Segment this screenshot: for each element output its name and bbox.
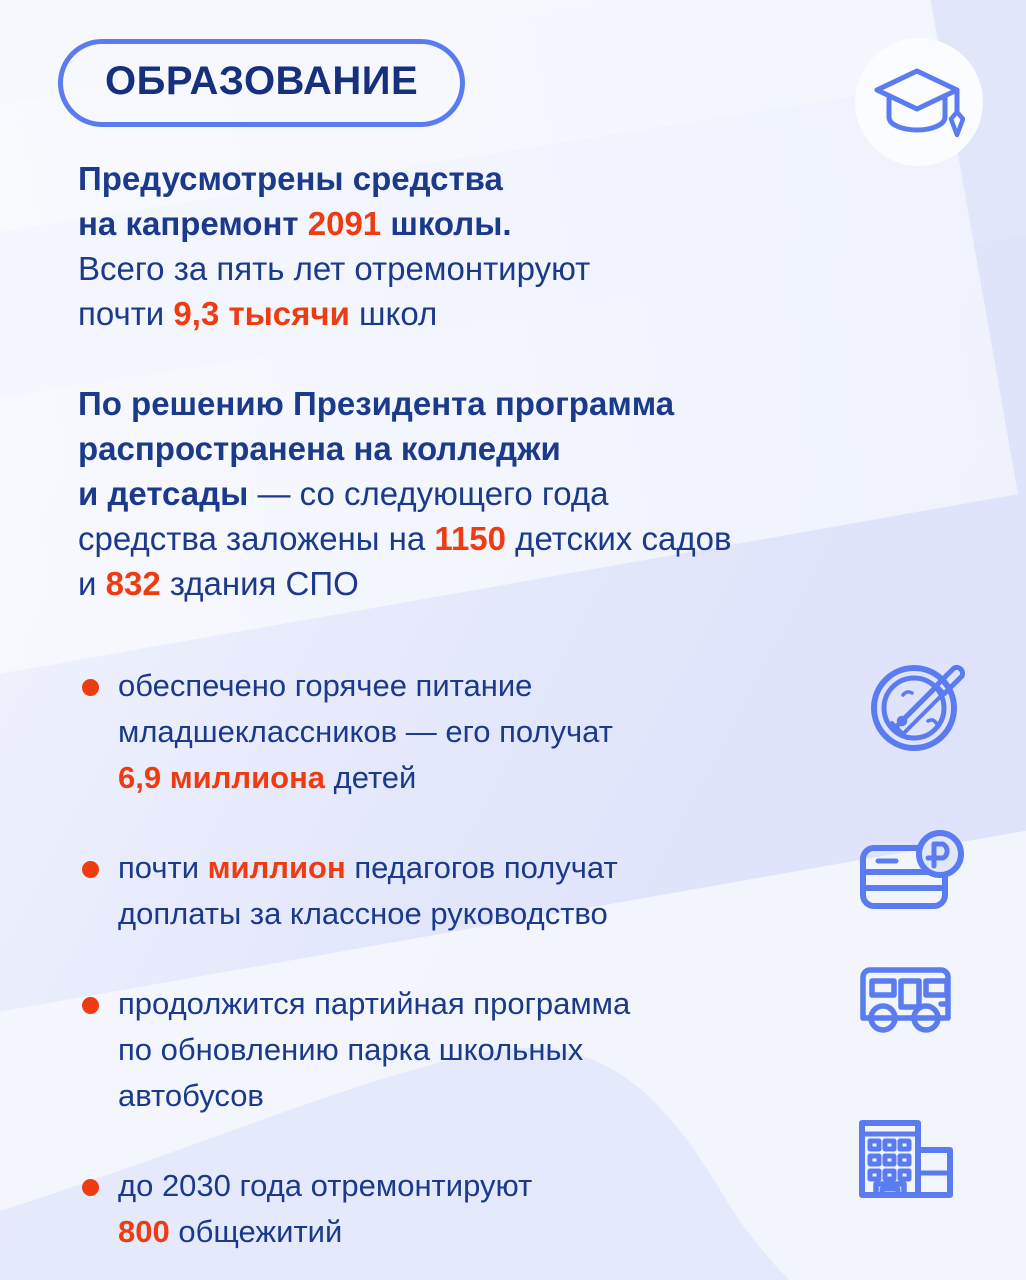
bullet-dot-icon — [82, 1179, 99, 1196]
text-segment: распространена на колледжи — [78, 430, 561, 467]
paragraph-colleges-line: и 832 здания СПО — [78, 561, 908, 606]
bullet-dot-icon — [82, 861, 99, 878]
text-segment: автобусов — [118, 1078, 264, 1113]
text-segment: общежитий — [170, 1214, 343, 1249]
highlight-value: 9,3 тысячи — [173, 295, 349, 332]
paragraph-intro-line: почти 9,3 тысячи школ — [78, 291, 878, 336]
bullet-item: продолжится партийная программапо обновл… — [78, 981, 808, 1119]
highlight-value: миллион — [208, 850, 346, 885]
text-segment: здания СПО — [161, 565, 359, 602]
infographic-poster: ОБРАЗОВАНИЕ Предусмотрены средствана кап… — [0, 0, 1026, 1280]
text-segment: школ — [350, 295, 437, 332]
section-badge: ОБРАЗОВАНИЕ — [58, 39, 465, 127]
text-segment: продолжится партийная программа — [118, 986, 630, 1021]
bullet-line: до 2030 года отремонтируют — [118, 1163, 808, 1209]
text-segment: детей — [325, 760, 416, 795]
paragraph-colleges-line: распространена на колледжи — [78, 426, 908, 471]
text-segment: педагогов получат — [346, 850, 618, 885]
bullet-item: почти миллион педагогов получатдоплаты з… — [78, 845, 808, 937]
bullet-text: до 2030 года отремонтируют800 общежитий — [118, 1163, 808, 1255]
text-segment: средства заложены на — [78, 520, 434, 557]
bullet-line: почти миллион педагогов получат — [118, 845, 808, 891]
paragraph-colleges-line: и детсады — со следующего года — [78, 471, 908, 516]
text-segment: на капремонт — [78, 205, 308, 242]
text-segment: и детсады — [78, 475, 248, 512]
school-bus-icon — [855, 962, 955, 1043]
paragraph-colleges-kindergartens: По решению Президента программараспростр… — [78, 381, 908, 606]
bullet-list: обеспечено горячее питаниемладшеклассник… — [78, 663, 808, 1255]
text-segment: По решению Президента программа — [78, 385, 674, 422]
bullet-line: 800 общежитий — [118, 1209, 808, 1255]
dormitory-building-icon — [857, 1118, 955, 1205]
paragraph-intro-line: на капремонт 2091 школы. — [78, 201, 878, 246]
section-badge-label: ОБРАЗОВАНИЕ — [105, 61, 418, 101]
bullet-text: продолжится партийная программапо обновл… — [118, 981, 808, 1119]
bullet-line: младшеклассников — его получат — [118, 709, 808, 755]
text-segment: Предусмотрены средства — [78, 160, 503, 197]
text-segment: и — [78, 565, 106, 602]
bullet-line: по обновлению парка школьных — [118, 1027, 808, 1073]
paragraph-colleges-line: средства заложены на 1150 детских садов — [78, 516, 908, 561]
paragraph-intro-line: Всего за пять лет отремонтируют — [78, 246, 878, 291]
text-segment: доплаты за классное руководство — [118, 896, 608, 931]
text-segment: Всего за пять лет отремонтируют — [78, 250, 590, 287]
text-segment: почти — [78, 295, 173, 332]
paragraph-intro-schools: Предусмотрены средствана капремонт 2091 … — [78, 156, 878, 336]
text-segment: — со следующего года — [248, 475, 608, 512]
text-segment: младшеклассников — его получат — [118, 714, 613, 749]
highlight-value: 800 — [118, 1214, 170, 1249]
text-segment: до 2030 года отремонтируют — [118, 1168, 532, 1203]
paragraph-intro-line: Предусмотрены средства — [78, 156, 878, 201]
highlight-value: 6,9 миллиона — [118, 760, 325, 795]
bullet-line: продолжится партийная программа — [118, 981, 808, 1027]
bullet-text: обеспечено горячее питаниемладшеклассник… — [118, 663, 808, 801]
bullet-text: почти миллион педагогов получатдоплаты з… — [118, 845, 808, 937]
plate-fork-icon — [862, 648, 972, 763]
graduation-cap-icon — [873, 63, 965, 141]
bank-card-ruble-icon — [858, 828, 970, 923]
graduation-cap-medallion — [855, 38, 983, 166]
highlight-value: 2091 — [308, 205, 381, 242]
bullet-line: доплаты за классное руководство — [118, 891, 808, 937]
bullet-dot-icon — [82, 679, 99, 696]
text-segment: по обновлению парка школьных — [118, 1032, 583, 1067]
text-segment: почти — [118, 850, 208, 885]
bullet-line: 6,9 миллиона детей — [118, 755, 808, 801]
text-segment: обеспечено горячее питание — [118, 668, 532, 703]
bullet-line: обеспечено горячее питание — [118, 663, 808, 709]
highlight-value: 1150 — [434, 520, 506, 557]
bullet-item: обеспечено горячее питаниемладшеклассник… — [78, 663, 808, 801]
bullet-item: до 2030 года отремонтируют800 общежитий — [78, 1163, 808, 1255]
text-segment: детских садов — [506, 520, 731, 557]
bullet-line: автобусов — [118, 1073, 808, 1119]
bullet-dot-icon — [82, 997, 99, 1014]
highlight-value: 832 — [106, 565, 161, 602]
text-segment: школы. — [381, 205, 511, 242]
paragraph-colleges-line: По решению Президента программа — [78, 381, 908, 426]
